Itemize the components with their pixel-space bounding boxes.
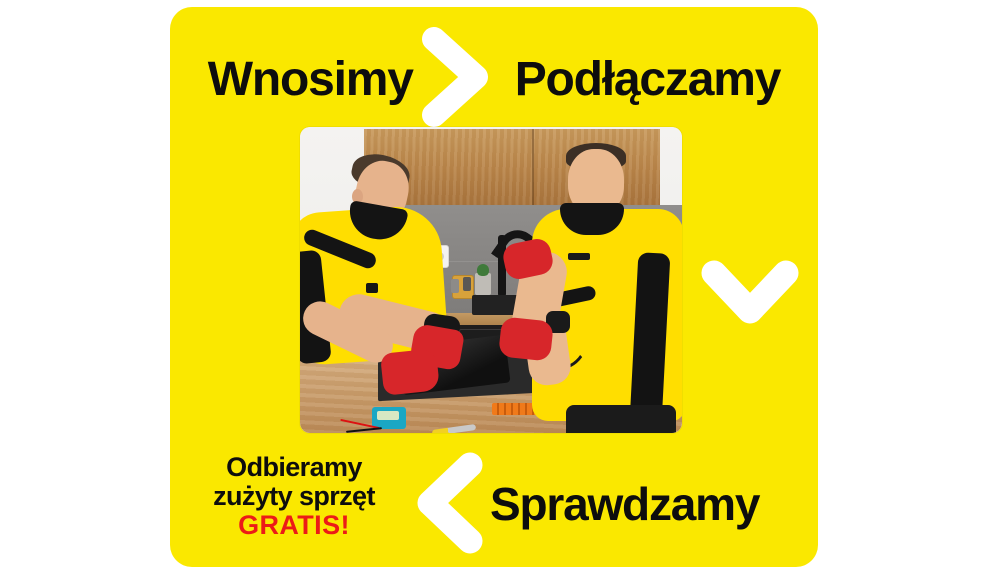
- potted-plant: [475, 273, 491, 295]
- chevron-down-icon: [698, 253, 802, 333]
- technician-right-trousers: [566, 405, 676, 433]
- technician-right: [522, 135, 682, 433]
- pickup-note: Odbieramy zużyty sprzęt GRATIS!: [180, 453, 408, 540]
- step-label-podlaczamy: Podłączamy: [515, 56, 780, 104]
- top-step-row: Wnosimy Podłączamy: [170, 35, 818, 125]
- chevron-right-icon: [418, 27, 490, 127]
- installation-photo-frame: [300, 127, 682, 433]
- pickup-note-gratis-badge: GRATIS!: [180, 511, 408, 540]
- pickup-note-line-1: Odbieramy: [180, 453, 408, 482]
- technician-right-chest-logo: [568, 253, 590, 260]
- pepper-grinder: [463, 277, 471, 291]
- bottom-step-row: Odbieramy zużyty sprzęt GRATIS! Sprawdza…: [170, 447, 818, 563]
- step-label-wnosimy: Wnosimy: [208, 56, 413, 104]
- installation-photo: [300, 127, 682, 433]
- step-label-sprawdzamy: Sprawdzamy: [490, 478, 759, 530]
- chevron-left-icon: [412, 451, 488, 555]
- step-3-wrapper: Sprawdzamy: [490, 481, 810, 527]
- promo-panel: Wnosimy Podłączamy: [170, 7, 818, 567]
- pickup-note-line-2: zużyty sprzęt: [180, 482, 408, 511]
- technician-left-red-glove-left: [380, 348, 440, 396]
- technician-left-chest-logo: [366, 283, 378, 293]
- technician-right-red-glove-lower: [498, 316, 554, 361]
- technician-left: [300, 155, 462, 433]
- promo-banner-canvas: Wnosimy Podłączamy: [0, 0, 1000, 581]
